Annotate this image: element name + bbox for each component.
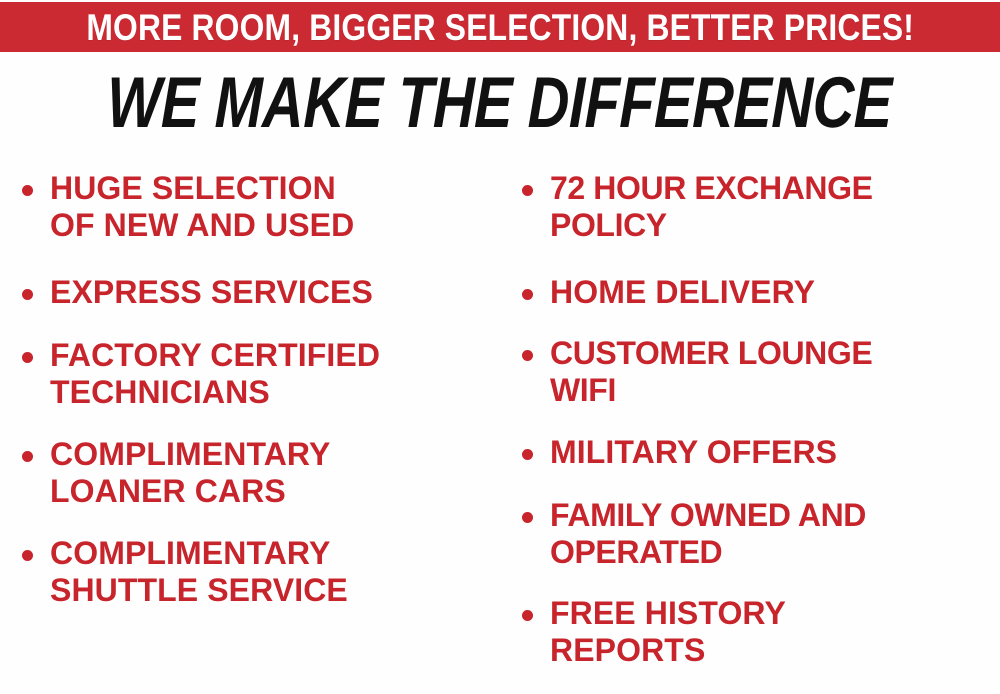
benefits-column-left: HUGE SELECTION OF NEW AND USED EXPRESS S… (14, 152, 494, 694)
top-banner: MORE ROOM, BIGGER SELECTION, BETTER PRIC… (0, 2, 1000, 52)
headline-text: WE MAKE THE DIFFERENCE (107, 67, 893, 139)
benefit-item: MILITARY OFFERS (514, 434, 1000, 471)
banner-headline-text: MORE ROOM, BIGGER SELECTION, BETTER PRIC… (86, 9, 914, 46)
benefit-item: HUGE SELECTION OF NEW AND USED (14, 170, 530, 244)
benefit-item: COMPLIMENTARY LOANER CARS (14, 436, 530, 510)
benefit-item: EXPRESS SERVICES (14, 274, 530, 311)
benefit-item: FAMILY OWNED AND OPERATED (514, 497, 1000, 571)
benefits-columns: HUGE SELECTION OF NEW AND USED EXPRESS S… (0, 152, 1000, 694)
benefit-item: 72 HOUR EXCHANGE POLICY (514, 170, 1000, 244)
promo-poster: MORE ROOM, BIGGER SELECTION, BETTER PRIC… (0, 0, 1000, 694)
main-headline: WE MAKE THE DIFFERENCE (0, 62, 1000, 144)
benefit-item: HOME DELIVERY (514, 274, 1000, 311)
benefits-column-right: 72 HOUR EXCHANGE POLICY HOME DELIVERY CU… (514, 152, 994, 694)
benefit-item: COMPLIMENTARY SHUTTLE SERVICE (14, 535, 530, 609)
benefit-item: FACTORY CERTIFIED TECHNICIANS (14, 337, 530, 411)
benefit-item: CUSTOMER LOUNGE WIFI (514, 335, 1000, 409)
benefit-item: FREE HISTORY REPORTS (514, 595, 1000, 669)
